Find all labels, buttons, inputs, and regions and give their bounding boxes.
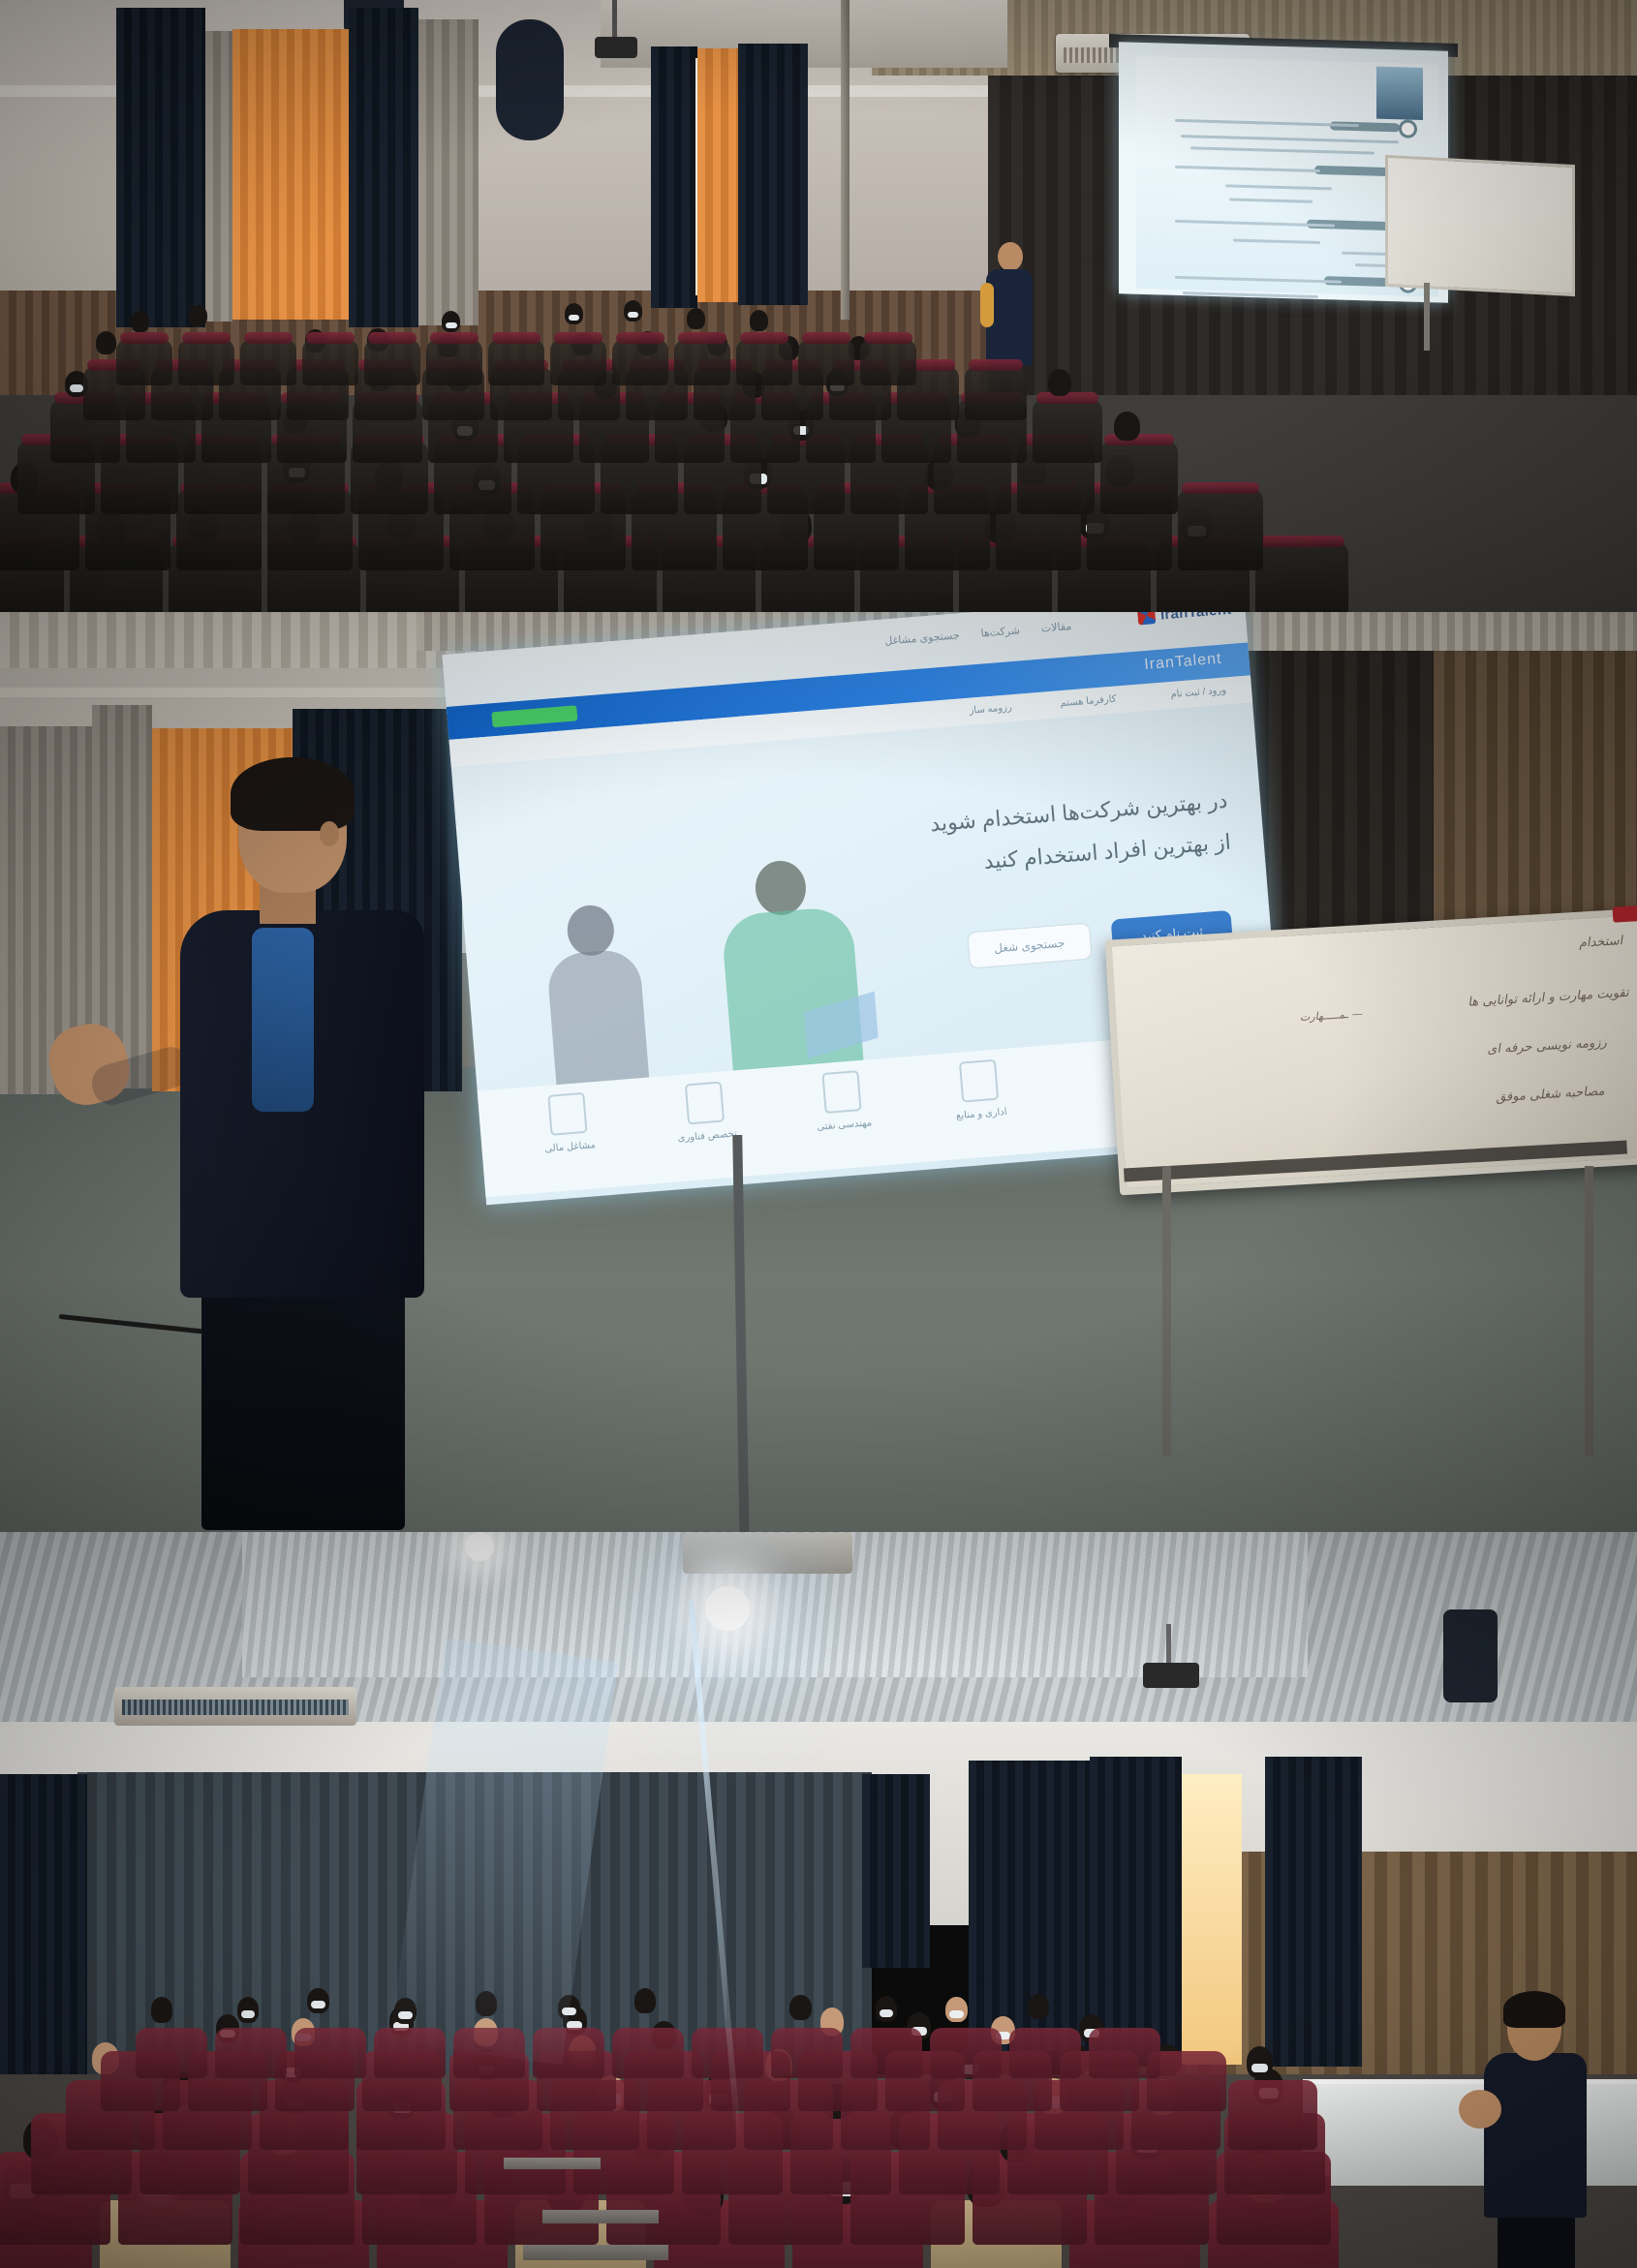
curtain-panel: [1090, 1757, 1182, 2067]
curtain-panel: [116, 8, 205, 327]
seat: [178, 339, 234, 385]
projector-mount: [1166, 1624, 1171, 1665]
subnav-item[interactable]: رزومه ساز: [969, 702, 1012, 717]
seat: [1089, 2028, 1160, 2078]
seat: [215, 2028, 287, 2078]
seat-top: [368, 332, 417, 344]
seat: [302, 339, 358, 385]
whiteboard: [1385, 155, 1575, 296]
wall-speaker-icon: [1443, 1609, 1498, 1702]
seat: [116, 339, 172, 385]
air-conditioner-unit: [683, 1533, 852, 1574]
seat: [930, 2028, 1002, 2078]
seat: [1178, 489, 1263, 570]
curtain-panel: [651, 46, 697, 308]
audience-member: [189, 305, 207, 326]
seat-top: [1182, 482, 1259, 494]
seat: [364, 339, 420, 385]
admin-icon: [959, 1059, 999, 1103]
audience-member: [131, 311, 149, 332]
curtain-panel: [697, 48, 738, 302]
seat: [240, 339, 296, 385]
engineering-icon: [821, 1070, 861, 1114]
projector-icon: [595, 37, 637, 58]
presenter: [1461, 1997, 1606, 2268]
curtain-panel: [0, 1774, 87, 2084]
subnav-item[interactable]: ورود / ثبت نام: [1170, 685, 1226, 700]
seat: [674, 339, 730, 385]
face-mask-icon: [949, 2010, 963, 2018]
collage-photo-bottom: [0, 1532, 1637, 2268]
curtain-panel: [738, 44, 808, 305]
job-search-button[interactable]: جستجوی شغل: [967, 922, 1093, 968]
seat: [1033, 399, 1102, 463]
curtain-panel: [205, 31, 232, 322]
seat: [736, 339, 792, 385]
presenter-hand: [1459, 2090, 1501, 2129]
seat: [426, 339, 482, 385]
nav-item[interactable]: جستجوی مشاغل: [884, 628, 960, 647]
seat: [1009, 2028, 1081, 2078]
technology-icon: [685, 1082, 725, 1125]
seat-top: [678, 332, 726, 344]
aisle-step: [542, 2210, 659, 2223]
seat: [550, 339, 606, 385]
audience-member: [151, 1997, 172, 2022]
seat: [771, 2028, 843, 2078]
projector-mount: [612, 0, 617, 39]
face-mask-icon: [311, 2001, 324, 2008]
audience-member: [96, 331, 116, 354]
nav-item[interactable]: شرکت‌ها: [980, 624, 1020, 639]
ceiling-spotlight: [705, 1586, 750, 1631]
category-tile[interactable]: اداری و منابع: [923, 1047, 1035, 1124]
whiteboard-handwriting: استخدام: [1578, 934, 1624, 951]
seat-top: [1104, 434, 1174, 445]
air-conditioner-unit: [114, 1687, 356, 1726]
whiteboard-corner-marker: [1613, 905, 1637, 923]
face-mask-icon: [241, 2010, 255, 2018]
seat-top: [430, 332, 479, 344]
category-label: مهندسی نفتی: [791, 1116, 899, 1135]
seat-top: [802, 332, 850, 344]
audience-member: [789, 1995, 811, 2020]
seat: [1228, 2080, 1317, 2150]
face-mask-icon: [569, 315, 579, 322]
collage-photo-top: [0, 0, 1637, 612]
seat-top: [306, 332, 355, 344]
subnav-item[interactable]: کارفرما هستم: [1060, 694, 1117, 710]
audience-member: [1247, 2046, 1274, 2078]
seat-top: [1259, 536, 1344, 547]
seat: [612, 339, 668, 385]
photo-collage: جستجوی مشاغل شرکت‌ها مقالات IranTalent I…: [0, 0, 1637, 2268]
seat: [860, 339, 916, 385]
standing-presenter: [978, 242, 1038, 368]
seat: [294, 2028, 366, 2078]
audience-member: [1048, 369, 1071, 395]
seat: [850, 2028, 922, 2078]
seat: [612, 2028, 684, 2078]
seat: [798, 339, 854, 385]
irantalent-logo: IranTalent: [1137, 612, 1232, 625]
collage-photo-middle: جستجوی مشاغل شرکت‌ها مقالات IranTalent I…: [0, 612, 1637, 1532]
seat: [1100, 441, 1178, 514]
seat-top: [616, 332, 664, 344]
face-mask-icon: [70, 384, 83, 392]
irantalent-mark-icon: [1137, 612, 1156, 625]
site-nav-items: جستجوی مشاغل شرکت‌ها مقالات: [884, 620, 1072, 647]
whiteboard-handwriting: رزومه نویسی حرفه ای: [1487, 1035, 1609, 1057]
category-label: اداری و منابع: [928, 1105, 1035, 1124]
seat-top: [864, 332, 912, 344]
nav-item[interactable]: مقالات: [1040, 620, 1071, 634]
curtain-panel: [232, 29, 349, 320]
category-label: تخصص فناوری: [654, 1126, 761, 1146]
seat-top: [969, 359, 1023, 371]
category-label: مشاغل مالی: [516, 1138, 624, 1157]
presenter: [167, 765, 438, 1532]
presenter-shirt: [252, 928, 314, 1112]
seat: [136, 2028, 207, 2078]
audience-member: [634, 1988, 656, 2013]
irantalent-wordmark: IranTalent: [1159, 612, 1232, 623]
projector-icon: [1143, 1663, 1199, 1688]
seat-top: [120, 332, 169, 344]
face-mask-icon: [446, 322, 456, 329]
seat-top: [740, 332, 788, 344]
audience-member: [687, 308, 705, 329]
banner-brand-text: IranTalent: [1144, 651, 1222, 674]
face-mask-icon: [1251, 2064, 1269, 2073]
aisle-step: [504, 2158, 601, 2169]
seat-top: [244, 332, 293, 344]
category-tile[interactable]: مهندسی نفتی: [787, 1057, 898, 1135]
whiteboard-leg: [1162, 1166, 1171, 1456]
face-mask-icon: [880, 2009, 893, 2017]
window-light: [1174, 1774, 1242, 2065]
curtain-panel: [862, 1774, 930, 1968]
banner-accent: [491, 705, 577, 727]
whiteboard-handwriting: مصاحبه شغلی موفق: [1495, 1084, 1606, 1105]
seat-top: [182, 332, 231, 344]
audience-member: [1028, 1994, 1049, 2019]
seat-top: [554, 332, 602, 344]
ceiling-spotlight: [465, 1532, 494, 1561]
curtain-panel: [349, 8, 418, 327]
face-mask-icon: [628, 312, 638, 319]
audience-member: [750, 310, 768, 331]
whiteboard-leg: [1585, 1166, 1593, 1456]
support-column: [841, 0, 849, 320]
whiteboard-stand: [1424, 283, 1430, 351]
curtain-panel: [418, 19, 479, 325]
category-tile[interactable]: تخصص فناوری: [649, 1069, 760, 1147]
wall-speaker-icon: [496, 19, 564, 140]
category-tile[interactable]: مشاغل مالی: [512, 1080, 624, 1157]
hero-headline: در بهترین شرکت‌ها استخدام شوید از بهترین…: [908, 781, 1233, 889]
seat-top: [492, 332, 541, 344]
finance-icon: [547, 1092, 587, 1136]
resume-photo: [1376, 67, 1423, 120]
seat: [965, 366, 1027, 420]
aisle-step: [523, 2245, 668, 2260]
whiteboard-handwriting: تقویت مهارت و ارائه توانایی ها: [1467, 986, 1631, 1010]
audience-member: [1114, 412, 1139, 441]
seat: [1255, 542, 1348, 612]
curtain-panel: [1265, 1757, 1362, 2067]
seat: [488, 339, 544, 385]
